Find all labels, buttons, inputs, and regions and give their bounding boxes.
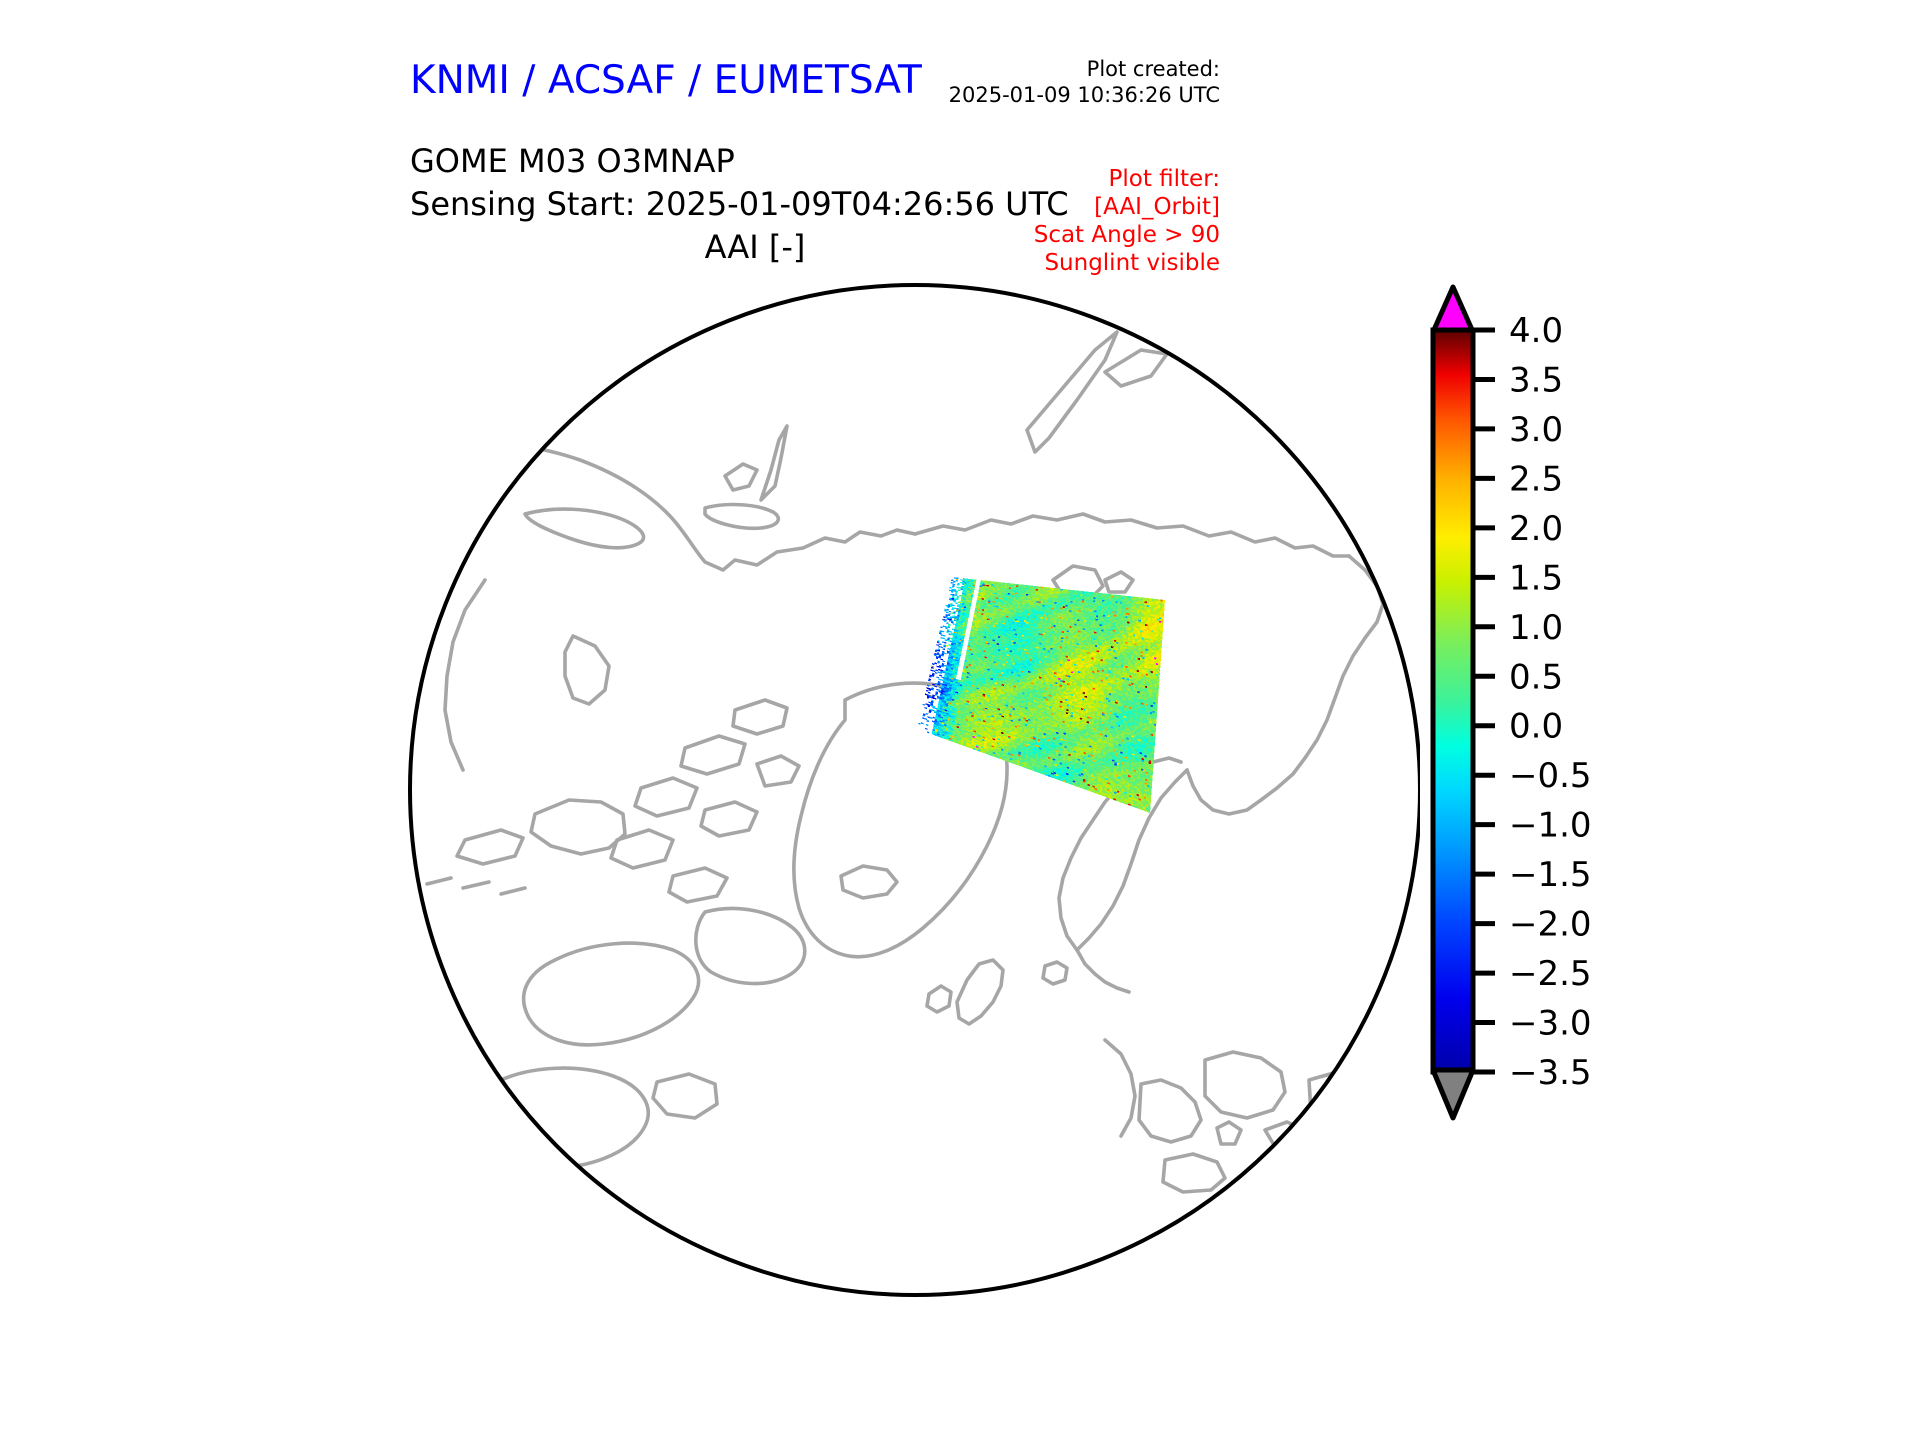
plot-filter-line-2: Scat Angle > 90 bbox=[1034, 221, 1220, 249]
colorbar-over-arrow bbox=[1433, 287, 1473, 332]
plot-created-block: Plot created: 2025-01-09 10:36:26 UTC bbox=[949, 56, 1220, 108]
colorbar[interactable]: 4.03.53.02.52.01.51.00.50.0−0.5−1.0−1.5−… bbox=[1425, 280, 1845, 1300]
colorbar-tick-label: 2.5 bbox=[1509, 459, 1563, 499]
organisation-title: KNMI / ACSAF / EUMETSAT bbox=[410, 58, 922, 103]
colorbar-under-arrow bbox=[1433, 1070, 1473, 1118]
colorbar-tick-label: 3.0 bbox=[1509, 410, 1563, 450]
colorbar-tick-label: −2.0 bbox=[1509, 905, 1592, 945]
product-info-block: GOME M03 O3MNAP Sensing Start: 2025-01-0… bbox=[410, 140, 1069, 226]
colorbar-tick-label: −3.5 bbox=[1509, 1053, 1592, 1093]
colorbar-gradient-bar bbox=[1433, 330, 1473, 1072]
colorbar-tick-label: −2.5 bbox=[1509, 954, 1592, 994]
colorbar-tick-label: 1.0 bbox=[1509, 608, 1563, 648]
polar-map[interactable] bbox=[405, 280, 1420, 1300]
colorbar-tick-label: 0.5 bbox=[1509, 657, 1563, 697]
colorbar-ticks: 4.03.53.02.52.01.51.00.50.0−0.5−1.0−1.5−… bbox=[1473, 311, 1592, 1093]
globe-disc bbox=[410, 285, 1420, 1295]
colorbar-svg: 4.03.53.02.52.01.51.00.50.0−0.5−1.0−1.5−… bbox=[1425, 280, 1845, 1300]
colorbar-tick-label: −3.0 bbox=[1509, 1004, 1592, 1044]
sensing-start: Sensing Start: 2025-01-09T04:26:56 UTC bbox=[410, 183, 1069, 226]
plot-filter-block: Plot filter: [AAI_Orbit] Scat Angle > 90… bbox=[1034, 165, 1220, 277]
quantity-title: AAI [-] bbox=[410, 228, 1100, 266]
plot-created-value: 2025-01-09 10:36:26 UTC bbox=[949, 82, 1220, 108]
plot-created-label: Plot created: bbox=[949, 56, 1220, 82]
colorbar-tick-label: −1.0 bbox=[1509, 806, 1592, 846]
plot-filter-line-1: [AAI_Orbit] bbox=[1034, 193, 1220, 221]
plot-filter-label: Plot filter: bbox=[1034, 165, 1220, 193]
plot-filter-line-3: Sunglint visible bbox=[1034, 249, 1220, 277]
colorbar-tick-label: 1.5 bbox=[1509, 558, 1563, 598]
colorbar-tick-label: 0.0 bbox=[1509, 707, 1563, 747]
map-svg bbox=[405, 280, 1420, 1300]
colorbar-tick-label: 3.5 bbox=[1509, 360, 1563, 400]
colorbar-tick-label: −0.5 bbox=[1509, 756, 1592, 796]
colorbar-tick-label: 2.0 bbox=[1509, 509, 1563, 549]
colorbar-tick-label: 4.0 bbox=[1509, 311, 1563, 351]
product-name: GOME M03 O3MNAP bbox=[410, 140, 1069, 183]
colorbar-tick-label: −1.5 bbox=[1509, 855, 1592, 895]
